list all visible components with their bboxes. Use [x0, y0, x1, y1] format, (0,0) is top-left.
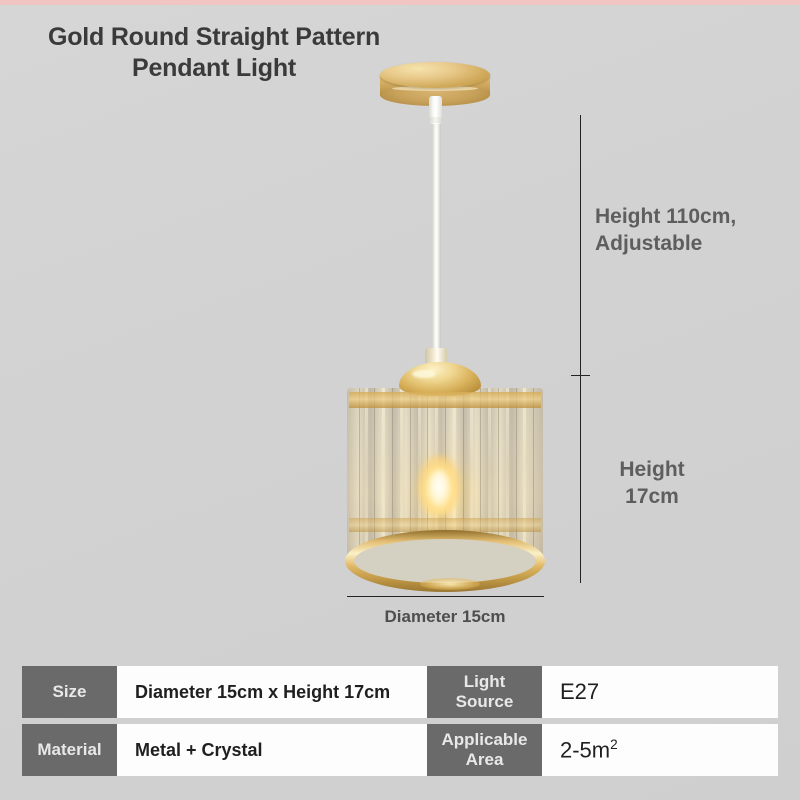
dimension-total-height-line2: Adjustable — [595, 230, 790, 257]
spec-key-light-source: Light Source — [427, 666, 542, 718]
spec-value-area-number: 2-5m — [560, 737, 610, 762]
dimension-label-shade-height: Height 17cm — [592, 456, 712, 511]
cord-grip-ring — [428, 117, 443, 123]
vertical-dimension-line — [580, 115, 581, 583]
spec-value-area-superscript: 2 — [610, 737, 618, 752]
ceiling-canopy-top — [380, 62, 490, 88]
bulb-filament-core — [428, 470, 450, 506]
dimension-shade-height-line2: 17cm — [592, 483, 712, 510]
spec-key-size: Size — [22, 666, 117, 718]
dimension-label-total-height: Height 110cm, Adjustable — [595, 203, 790, 258]
spec-key-area-line1: Applicable — [442, 730, 528, 749]
spec-value-size: Diameter 15cm x Height 17cm — [117, 666, 427, 718]
shade-cap-highlight — [412, 370, 436, 378]
table-row: Size Diameter 15cm x Height 17cm Light S… — [22, 666, 778, 718]
pendant-light-photo — [0, 0, 800, 660]
spec-value-applicable-area: 2-5m2 — [542, 724, 778, 776]
shade-upper-gold-band — [349, 392, 541, 408]
spec-key-material: Material — [22, 724, 117, 776]
dimension-shade-height-line1: Height — [592, 456, 712, 483]
spec-key-applicable-area: Applicable Area — [427, 724, 542, 776]
dimension-total-height-line1: Height 110cm, — [595, 203, 790, 230]
horizontal-dimension-line — [347, 596, 544, 597]
dimension-label-diameter: Diameter 15cm — [345, 606, 545, 628]
spec-value-light-source: E27 — [542, 666, 778, 718]
table-row: Material Metal + Crystal Applicable Area… — [22, 724, 778, 776]
specification-table: Size Diameter 15cm x Height 17cm Light S… — [22, 666, 778, 776]
spec-value-material: Metal + Crystal — [117, 724, 427, 776]
suspension-cord — [432, 120, 441, 360]
spec-key-area-line2: Area — [466, 750, 504, 769]
shade-top-cap — [399, 362, 481, 396]
product-listing-image: Gold Round Straight Pattern Pendant Ligh… — [0, 0, 800, 800]
bottom-ring-glint — [420, 578, 480, 590]
vertical-dimension-tick — [571, 375, 590, 376]
